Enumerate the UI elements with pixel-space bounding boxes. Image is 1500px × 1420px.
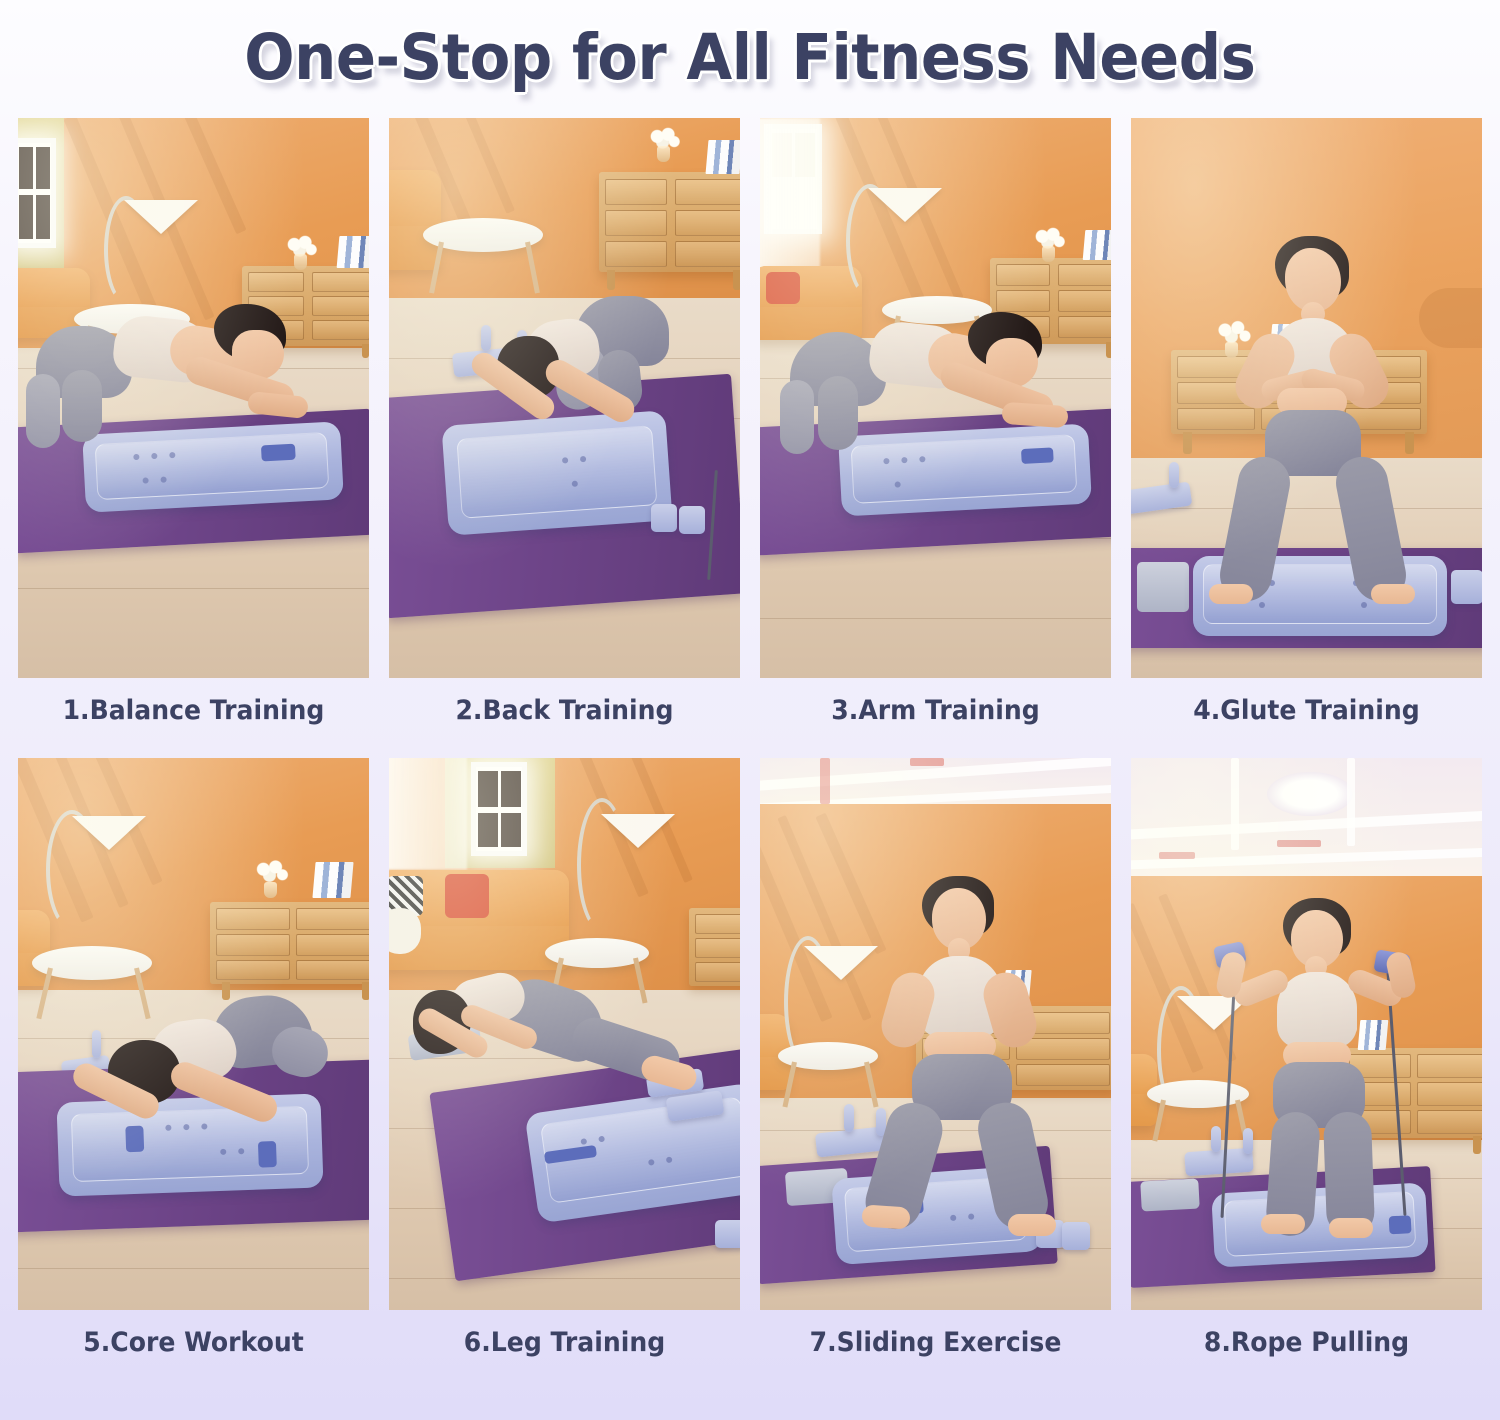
vase <box>294 254 307 270</box>
exercise-photo-7[interactable] <box>760 758 1111 1310</box>
furniture-leg <box>1106 342 1111 358</box>
roller-accessory <box>651 504 677 532</box>
drawer <box>216 908 290 930</box>
drawer <box>216 960 290 980</box>
person-figure <box>1251 898 1431 1228</box>
foot-left <box>861 1204 910 1229</box>
exercise-caption-3: 3.Arm Training <box>772 678 1098 726</box>
exercise-caption-5: 5.Core Workout <box>30 1310 356 1358</box>
window-pane <box>19 147 33 189</box>
lamp-shade <box>601 814 675 848</box>
exercise-caption-2: 2.Back Training <box>401 678 727 726</box>
foot-right <box>1329 1218 1373 1238</box>
accessory-spring <box>1169 462 1179 488</box>
drawer <box>605 210 667 236</box>
books <box>312 862 353 898</box>
person-figure <box>489 296 729 496</box>
shin <box>62 370 102 442</box>
shin <box>818 376 858 450</box>
drawer <box>695 938 740 958</box>
exercise-cell-5[interactable]: 5.Core Workout <box>18 758 369 1358</box>
lower-leg <box>780 380 814 454</box>
couch-back <box>18 910 50 953</box>
floor-plank <box>18 1268 369 1269</box>
drawer <box>296 960 369 980</box>
page-title: One-Stop for All Fitness Needs <box>244 21 1255 94</box>
drawer <box>675 241 740 267</box>
exercise-caption-6: 6.Leg Training <box>401 1310 727 1358</box>
throw-pillow <box>766 272 800 304</box>
furniture-leg <box>1473 1136 1481 1154</box>
grid-row-2: 5.Core Workout <box>18 758 1482 1358</box>
exercise-photo-3[interactable] <box>760 118 1111 678</box>
roller-accessory <box>715 1220 740 1248</box>
furniture-leg <box>607 270 615 290</box>
floor-plank <box>760 618 1111 619</box>
exercise-caption-4: 4.Glute Training <box>1143 678 1469 726</box>
foot-right <box>1371 584 1415 604</box>
exercise-cell-2[interactable]: 2.Back Training <box>389 118 740 726</box>
person-figure <box>18 308 318 508</box>
exercise-photo-1[interactable] <box>18 118 369 678</box>
ceiling-marker <box>910 758 944 766</box>
drawer <box>248 272 304 292</box>
drawer <box>312 296 369 316</box>
foot-left <box>1261 1214 1305 1234</box>
person-figure <box>880 876 1070 1244</box>
exercise-caption-1: 1.Balance Training <box>30 678 356 726</box>
person-figure <box>403 958 713 1178</box>
furniture-leg <box>362 344 369 358</box>
slider-pad <box>1137 562 1189 612</box>
exercise-cell-8[interactable]: 8.Rope Pulling <box>1131 758 1482 1358</box>
throw-pillow <box>445 874 489 918</box>
books <box>706 140 740 174</box>
couch <box>389 870 569 970</box>
books <box>337 236 369 268</box>
sideboard <box>210 902 369 984</box>
exercise-cell-1[interactable]: 1.Balance Training <box>18 118 369 726</box>
exercise-caption-7: 7.Sliding Exercise <box>772 1310 1098 1358</box>
lamp-shade <box>72 816 146 850</box>
exercise-photo-5[interactable] <box>18 758 369 1310</box>
exercise-photo-8[interactable] <box>1131 758 1482 1310</box>
window-pane <box>478 813 498 847</box>
ceiling-marker <box>1159 852 1195 859</box>
vase <box>264 882 277 898</box>
drawer <box>312 272 369 292</box>
lower-leg <box>26 374 60 448</box>
furniture-leg <box>733 270 740 290</box>
accessory-spring <box>1211 1126 1221 1152</box>
furniture-leg <box>362 982 369 1000</box>
couch <box>389 170 441 270</box>
header: One-Stop for All Fitness Needs <box>0 0 1500 110</box>
drawer <box>216 934 290 956</box>
lamp-shade <box>868 188 942 222</box>
exercise-cell-6[interactable]: 6.Leg Training <box>389 758 740 1358</box>
drawer <box>312 320 369 340</box>
couch-back <box>18 268 90 307</box>
leg-right <box>1332 452 1411 605</box>
roller-accessory <box>1451 570 1482 604</box>
slider-pad <box>1140 1179 1199 1212</box>
foot-right <box>1008 1214 1056 1236</box>
exercise-grid: 1.Balance Training <box>18 118 1482 1358</box>
window-pane <box>36 195 50 239</box>
drawer <box>605 179 667 205</box>
drawer <box>695 914 740 934</box>
wall-light-shadow <box>1419 288 1482 348</box>
drawer <box>296 908 369 930</box>
lamp-shade <box>124 200 198 234</box>
window-pane <box>19 195 33 239</box>
exercise-cell-7[interactable]: 7.Sliding Exercise <box>760 758 1111 1358</box>
window-pane <box>36 147 50 189</box>
sports-bra <box>1277 972 1357 1048</box>
exercise-photo-6[interactable] <box>389 758 740 1310</box>
window-pane <box>501 813 521 847</box>
window-pane <box>501 771 521 807</box>
exercise-cell-4[interactable]: 4.Glute Training <box>1131 118 1482 726</box>
ceiling-marker <box>1277 840 1321 847</box>
exercise-photo-4[interactable] <box>1131 118 1482 678</box>
lamp-shade <box>804 946 878 980</box>
person-figure <box>1205 236 1415 616</box>
forearm <box>247 391 309 419</box>
accessory-spring <box>844 1104 854 1132</box>
leg-left <box>1216 452 1295 605</box>
floor-plank <box>389 1278 740 1279</box>
window <box>18 138 56 248</box>
ceiling-support <box>1347 758 1355 846</box>
drawer <box>996 264 1050 286</box>
curtain <box>389 758 467 870</box>
floor-plank <box>18 588 369 589</box>
vase <box>1042 246 1055 262</box>
person-figure <box>76 996 346 1176</box>
grid-row-1: 1.Balance Training <box>18 118 1482 726</box>
person-figure <box>778 308 1078 518</box>
furniture-leg <box>1183 432 1192 454</box>
books <box>1083 230 1111 260</box>
exercise-cell-3[interactable]: 3.Arm Training <box>760 118 1111 726</box>
drawer <box>675 179 740 205</box>
drawer <box>605 241 667 267</box>
forearm <box>1001 402 1068 429</box>
throw-pillow <box>389 908 421 954</box>
exercise-photo-2[interactable] <box>389 118 740 678</box>
window <box>471 762 527 856</box>
ceiling-support <box>1231 758 1239 850</box>
roller-accessory <box>679 506 705 534</box>
exercise-caption-8: 8.Rope Pulling <box>1143 1310 1469 1358</box>
foot-left <box>1209 584 1253 604</box>
ceiling-marker <box>820 758 830 804</box>
sideboard <box>599 172 740 272</box>
drawer <box>675 210 740 236</box>
drawer <box>296 934 369 956</box>
window-pane <box>478 771 498 807</box>
ceiling-light <box>1267 772 1353 816</box>
vase <box>657 146 670 162</box>
couch-back <box>389 170 441 226</box>
drawer <box>1058 264 1111 286</box>
foot <box>639 1053 700 1093</box>
